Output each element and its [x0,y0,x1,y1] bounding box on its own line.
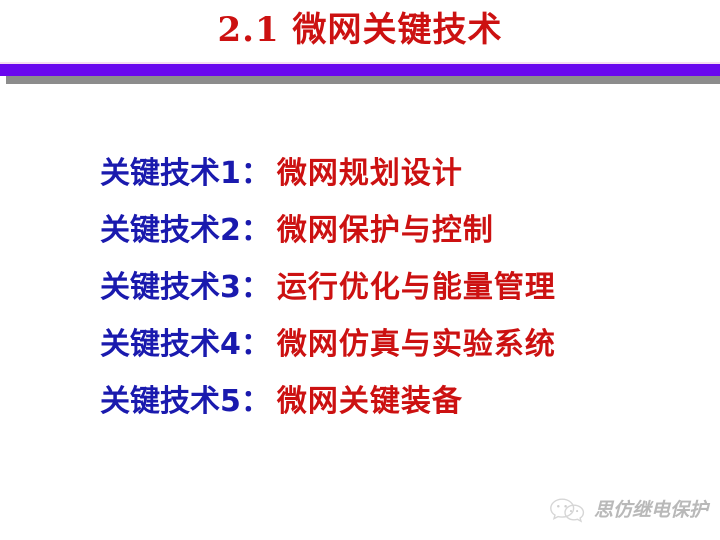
list-item-label: 关键技术2： [100,213,271,248]
list-item: 关键技术2：微网保护与控制 [100,205,700,262]
list-item-label: 关键技术3： [100,270,271,305]
list-item-value: 微网保护与控制 [277,213,494,248]
list-item: 关键技术5：微网关键装备 [100,376,700,433]
slide-canvas: 2.1 微网关键技术 关键技术1：微网规划设计 关键技术2：微网保护与控制 关键… [0,0,720,540]
list-item: 关键技术1：微网规划设计 [100,148,700,205]
title-zone: 2.1 微网关键技术 [0,0,720,62]
list-item-value: 微网仿真与实验系统 [277,327,556,362]
divider-shadow [6,76,720,84]
watermark: 思仿继电保护 [548,494,708,526]
list-item-label: 关键技术1： [100,156,271,191]
list-item-label: 关键技术4： [100,327,271,362]
title-divider [0,62,720,88]
list-item: 关键技术3：运行优化与能量管理 [100,262,700,319]
wechat-icon [548,496,588,524]
watermark-text: 思仿继电保护 [594,497,708,523]
list-item-label: 关键技术5： [100,384,271,419]
page-title: 2.1 微网关键技术 [0,8,720,52]
key-technology-list: 关键技术1：微网规划设计 关键技术2：微网保护与控制 关键技术3：运行优化与能量… [100,148,700,433]
list-item-value: 运行优化与能量管理 [277,270,556,305]
list-item: 关键技术4：微网仿真与实验系统 [100,319,700,376]
list-item-value: 微网规划设计 [277,156,463,191]
divider-bar [0,64,720,76]
list-item-value: 微网关键装备 [277,384,463,419]
